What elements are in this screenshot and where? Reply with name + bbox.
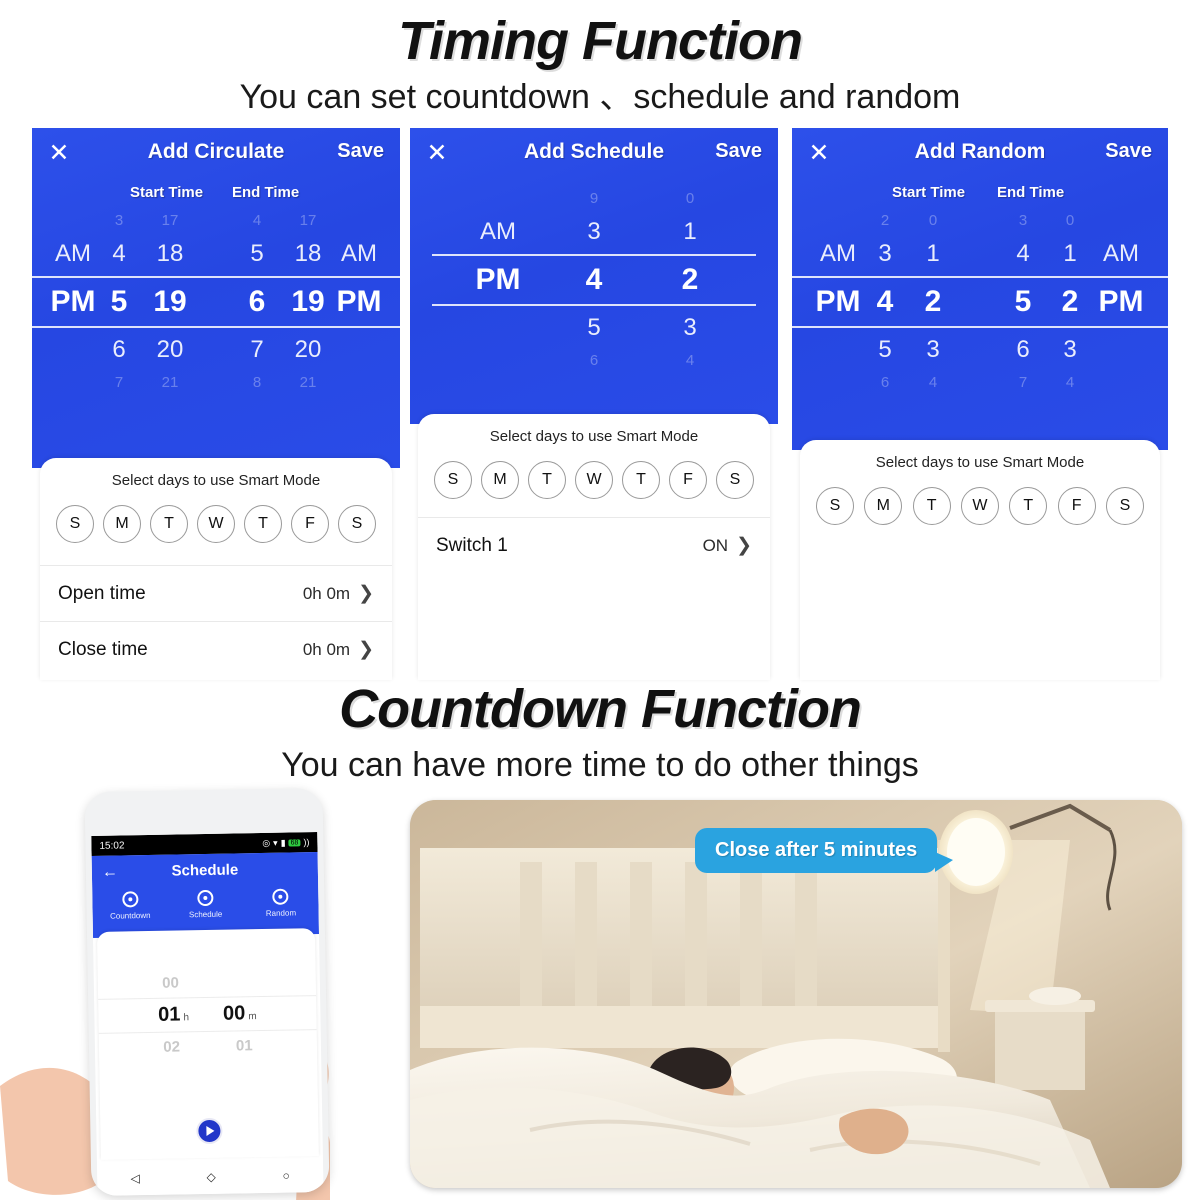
minute-below: 20: [280, 328, 336, 372]
tab-random[interactable]: Random: [243, 888, 319, 918]
speech-bubble: Close after 5 minutes: [695, 828, 937, 873]
ampm-selected: PM: [1093, 276, 1149, 328]
hour-below: 7: [234, 328, 280, 372]
day-mon[interactable]: M: [864, 487, 902, 525]
switch-1-label: Switch 1: [436, 535, 508, 557]
minute-selected: 2: [908, 276, 958, 328]
ghost: 0: [642, 188, 738, 210]
ampm-selected: PM: [814, 276, 862, 328]
start-time-wheel[interactable]: 3 17 AM 4 18 PM 5 19: [32, 210, 216, 394]
close-time-label: Close time: [58, 639, 148, 661]
ampm-selected: PM: [336, 276, 382, 328]
hour-ghost-below: 02: [163, 1038, 180, 1055]
status-icons: ◎ ▾ ▮ 68 )): [262, 837, 309, 849]
day-thu[interactable]: T: [1009, 487, 1047, 525]
hour-below: 6: [999, 328, 1047, 372]
save-button[interactable]: Save: [1105, 140, 1152, 163]
chevron-right-icon: ❯: [736, 534, 752, 557]
day-fri[interactable]: F: [1058, 487, 1096, 525]
countdown-ghost-below: 02 01: [99, 1036, 317, 1057]
switch-1-value: ON: [703, 536, 729, 556]
play-icon: [206, 1126, 214, 1136]
hour-above: 3: [546, 210, 642, 254]
minute-below: 3: [1047, 328, 1093, 372]
ghost: 21: [142, 372, 198, 394]
ghost: 17: [142, 210, 198, 232]
alarm-icon: ◎: [262, 837, 270, 848]
panel3-wheels: 2 0 AM 3 1 PM 4 2: [792, 210, 1168, 394]
day-tue[interactable]: T: [528, 461, 566, 499]
ghost: 0: [1047, 210, 1093, 232]
clock-icon: [122, 891, 138, 907]
nav-recents-icon[interactable]: ○: [282, 1169, 289, 1183]
minute-above: 1: [642, 210, 738, 254]
hour-below: 6: [96, 328, 142, 372]
day-thu[interactable]: T: [244, 505, 282, 543]
day-wed[interactable]: W: [197, 505, 235, 543]
open-time-value: 0h 0m: [303, 584, 350, 604]
nav-back-icon[interactable]: ◁: [130, 1171, 139, 1185]
tab-random-label: Random: [243, 908, 318, 918]
minute-selected: 19: [280, 276, 336, 328]
save-button[interactable]: Save: [337, 140, 384, 163]
phone-mockup: 15:02 ◎ ▾ ▮ 68 )) ← Schedule: [84, 788, 329, 1196]
hour-below: 5: [546, 306, 642, 350]
hour-above: 5: [234, 232, 280, 276]
start-selected-row[interactable]: PM 5 19: [32, 276, 216, 328]
day-selector[interactable]: S M T W T F S: [800, 483, 1160, 525]
panel3-smart-sheet: Select days to use Smart Mode S M T W T …: [800, 440, 1160, 680]
minute-unit: m: [248, 1011, 257, 1022]
panel-add-circulate: ✕ Add Circulate Save Start Time End Time…: [32, 128, 400, 468]
panel2-smart-sheet: Select days to use Smart Mode S M T W T …: [418, 414, 770, 680]
ampm-selected: PM: [450, 254, 546, 306]
ampm-above: AM: [336, 232, 382, 276]
day-fri[interactable]: F: [291, 505, 329, 543]
bedroom-photo: Close after 5 minutes: [410, 800, 1182, 1188]
ampm-above: AM: [450, 210, 546, 254]
ghost: 4: [908, 372, 958, 394]
ghost: 6: [862, 372, 908, 394]
ghost: 7: [999, 372, 1047, 394]
switch-1-row[interactable]: Switch 1 ON ❯: [418, 517, 770, 573]
start-countdown-button[interactable]: [196, 1118, 222, 1144]
phone-page-title: Schedule: [92, 860, 318, 881]
day-sun[interactable]: S: [434, 461, 472, 499]
day-selector[interactable]: S M T W T F S: [40, 501, 392, 543]
phone-tabs: Countdown Schedule Random: [92, 888, 318, 921]
smart-mode-header: Select days to use Smart Mode: [418, 414, 770, 457]
hour-above: 4: [96, 232, 142, 276]
close-time-row[interactable]: Close time 0h 0m ❯: [40, 621, 392, 677]
chevron-right-icon: ❯: [358, 638, 374, 661]
hour-selected: 5: [96, 276, 142, 328]
tab-schedule[interactable]: Schedule: [168, 889, 244, 919]
day-tue[interactable]: T: [150, 505, 188, 543]
hour-selected: 4: [862, 276, 908, 328]
hour-selected: 5: [999, 276, 1047, 328]
tab-schedule-label: Schedule: [168, 909, 243, 919]
wifi-icon: ▾: [273, 837, 278, 848]
ghost: 4: [234, 210, 280, 232]
end-time-label: End Time: [997, 184, 1064, 201]
day-sat[interactable]: S: [338, 505, 376, 543]
countdown-title: Countdown Function: [0, 682, 1200, 736]
open-time-row[interactable]: Open time 0h 0m ❯: [40, 565, 392, 621]
ghost: 3: [999, 210, 1047, 232]
panel-add-random: ✕ Add Random Save Start Time End Time 2 …: [792, 128, 1168, 450]
minute-above: 18: [280, 232, 336, 276]
countdown-sheet: 00 00 01h 00m 02 01: [97, 928, 319, 1160]
minute-below: 20: [142, 328, 198, 372]
ghost: 17: [280, 210, 336, 232]
hour-value: 01: [158, 1003, 181, 1025]
smart-mode-header: Select days to use Smart Mode: [800, 440, 1160, 483]
panel1-smart-sheet: Select days to use Smart Mode S M T W T …: [40, 458, 392, 680]
end-time-wheel[interactable]: 3 0 4 1 AM 5 2 PM: [980, 210, 1168, 394]
bottom-section: 15:02 ◎ ▾ ▮ 68 )) ← Schedule: [0, 786, 1200, 1200]
nav-home-icon[interactable]: ◇: [206, 1170, 215, 1184]
save-button[interactable]: Save: [715, 140, 762, 163]
start-time-wheel[interactable]: 2 0 AM 3 1 PM 4 2: [792, 210, 980, 394]
countdown-selected-row[interactable]: 01h 00m: [98, 995, 317, 1034]
hour-above: 3: [862, 232, 908, 276]
minute-above: 1: [908, 232, 958, 276]
start-time-label: Start Time: [892, 184, 965, 201]
panel2-wheels[interactable]: 9 0 AM 3 1 PM 4 2 5 3: [410, 184, 778, 372]
day-sat[interactable]: S: [716, 461, 754, 499]
panel1-picker-headers: Start Time End Time: [32, 184, 400, 210]
ghost: 2: [862, 210, 908, 232]
phone-appbar: ← Schedule Countdown Schedule: [92, 852, 319, 938]
ghost: 7: [96, 372, 142, 394]
minute-above: 1: [1047, 232, 1093, 276]
day-mon[interactable]: M: [103, 505, 141, 543]
day-sat[interactable]: S: [1106, 487, 1144, 525]
panel-add-schedule: ✕ Add Schedule Save 9 0 AM 3 1 PM 4: [410, 128, 778, 424]
ghost: 8: [234, 372, 280, 394]
day-thu[interactable]: T: [622, 461, 660, 499]
panel3-picker-headers: Start Time End Time: [792, 184, 1168, 210]
battery-icon: 68: [289, 839, 301, 846]
chevron-right-icon: ❯: [358, 582, 374, 605]
smart-mode-header: Select days to use Smart Mode: [40, 458, 392, 501]
panel1-appbar: ✕ Add Circulate Save: [32, 128, 400, 184]
minute-below: 3: [642, 306, 738, 350]
day-mon[interactable]: M: [481, 461, 519, 499]
vibrate-icon: )): [303, 837, 309, 847]
tab-countdown[interactable]: Countdown: [92, 891, 168, 921]
start-time-label: Start Time: [130, 184, 203, 201]
minute-above: 18: [142, 232, 198, 276]
hour-field[interactable]: 01h: [158, 1003, 189, 1027]
tab-countdown-label: Countdown: [93, 911, 168, 921]
phone-screen: 15:02 ◎ ▾ ▮ 68 )) ← Schedule: [91, 832, 323, 1196]
start-selected-row[interactable]: PM 4 2: [792, 276, 980, 328]
infographic-page: Timing Function You can set countdown 、s…: [0, 0, 1200, 1200]
ampm-above: AM: [50, 232, 96, 276]
android-nav-bar: ◁ ◇ ○: [97, 1158, 324, 1196]
hour-ghost-above: 00: [162, 974, 179, 991]
timing-subtitle: You can set countdown 、schedule and rand…: [0, 80, 1200, 114]
clock-icon: [273, 889, 289, 905]
end-selected-row[interactable]: 6 19 PM: [216, 276, 400, 328]
panel3-appbar: ✕ Add Random Save: [792, 128, 1168, 184]
hour-below: 5: [862, 328, 908, 372]
hour-selected: 4: [546, 254, 642, 306]
day-sun[interactable]: S: [56, 505, 94, 543]
countdown-ghost-above: 00 00: [98, 972, 316, 993]
minute-selected: 2: [1047, 276, 1093, 328]
minute-selected: 2: [642, 254, 738, 306]
minute-field[interactable]: 00m: [223, 1002, 257, 1026]
countdown-subtitle: You can have more time to do other thing…: [0, 748, 1200, 782]
ampm-above: AM: [814, 232, 862, 276]
end-time-label: End Time: [232, 184, 299, 201]
minute-below: 3: [908, 328, 958, 372]
ampm-selected: PM: [50, 276, 96, 328]
ghost: 3: [96, 210, 142, 232]
ampm-above: AM: [1093, 232, 1149, 276]
day-wed[interactable]: W: [961, 487, 999, 525]
ghost: 6: [546, 350, 642, 372]
close-time-value: 0h 0m: [303, 640, 350, 660]
ghost: 4: [1047, 372, 1093, 394]
minute-value: 00: [223, 1002, 246, 1024]
timing-title: Timing Function: [0, 14, 1200, 68]
panel2-appbar: ✕ Add Schedule Save: [410, 128, 778, 184]
ghost: 21: [280, 372, 336, 394]
hour-unit: h: [183, 1012, 189, 1023]
clock-icon: [197, 890, 213, 906]
day-fri[interactable]: F: [669, 461, 707, 499]
ghost: 4: [642, 350, 738, 372]
day-sun[interactable]: S: [816, 487, 854, 525]
ghost: 9: [546, 188, 642, 210]
signal-icon: ▮: [281, 837, 286, 848]
ghost: 0: [908, 210, 958, 232]
minute-ghost-below: 01: [236, 1037, 253, 1054]
hour-selected: 6: [234, 276, 280, 328]
day-selector[interactable]: S M T W T F S: [418, 457, 770, 499]
panels-row: ✕ Add Circulate Save Start Time End Time…: [0, 128, 1200, 680]
end-selected-row[interactable]: 5 2 PM: [980, 276, 1168, 328]
status-time: 15:02: [99, 840, 124, 851]
minute-selected: 19: [142, 276, 198, 328]
end-time-wheel[interactable]: 4 17 5 18 AM 6 19 PM: [216, 210, 400, 394]
panel1-wheels: 3 17 AM 4 18 PM 5 19: [32, 210, 400, 394]
open-time-label: Open time: [58, 583, 146, 605]
hour-above: 4: [999, 232, 1047, 276]
day-wed[interactable]: W: [575, 461, 613, 499]
schedule-selected-row[interactable]: PM 4 2: [432, 254, 756, 306]
day-tue[interactable]: T: [913, 487, 951, 525]
